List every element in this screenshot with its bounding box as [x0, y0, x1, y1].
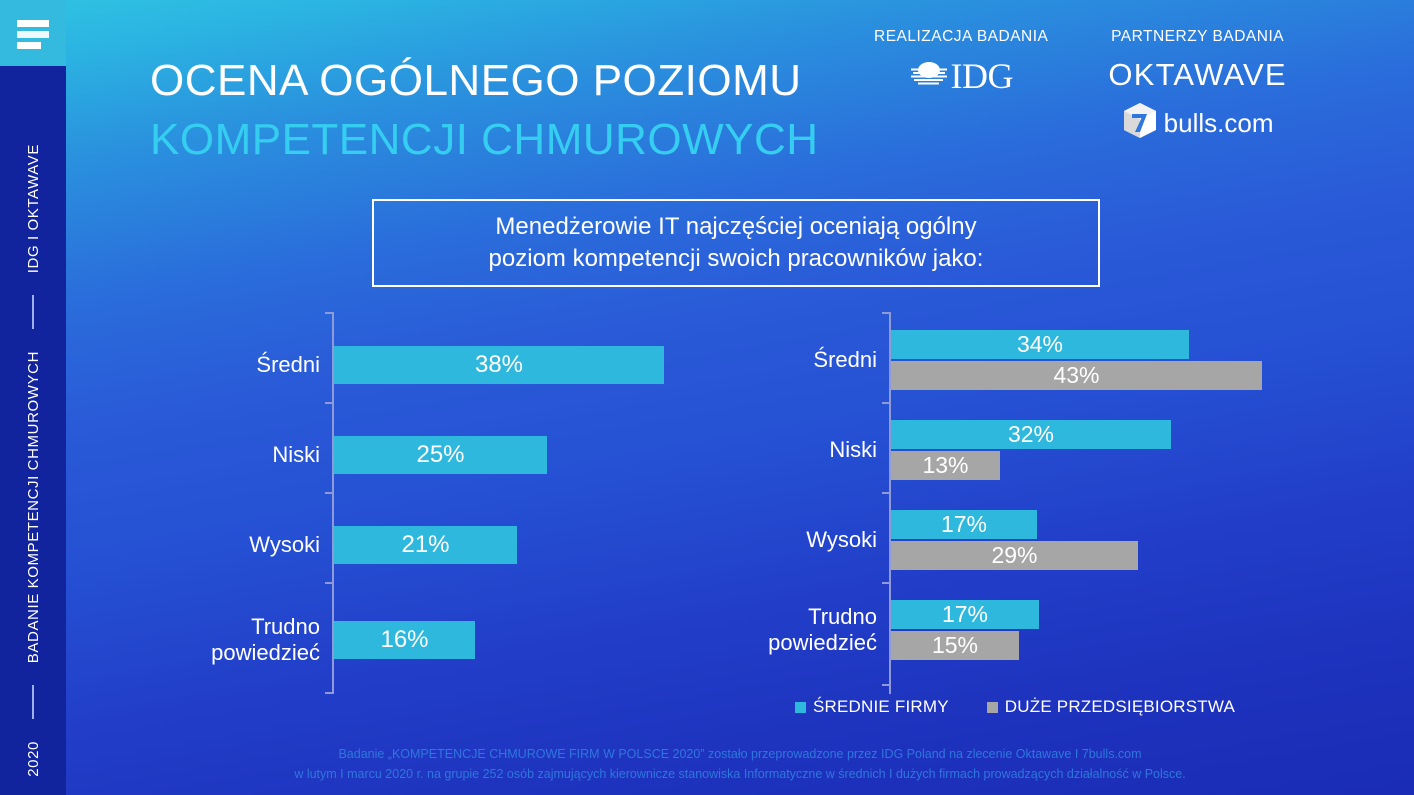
chart-total-row-3: Trudno powiedzieć 16% [180, 597, 700, 683]
credit-column-partnerzy: PARTNERZY BADANIA OKTAWAVE bulls.com [1108, 28, 1286, 145]
bar-total-3: 16% [334, 621, 475, 659]
chart-size-bars-3: 17% 15% [891, 587, 1300, 673]
chart-size-bars-1: 32% 13% [891, 407, 1300, 493]
rail-study-name: BADANIE KOMPETENCJI CHMUROWYCH [25, 351, 42, 663]
sevenbulls-cube-icon [1122, 102, 1158, 145]
bar-value-label: 15% [932, 634, 978, 657]
chart-total-bars-1: 25% [334, 412, 700, 498]
footnote: Badanie „KOMPETENCJE CHMUROWE FIRM W POL… [66, 744, 1414, 784]
legend-label: DUŻE PRZEDSIĘBIORSTWA [1005, 697, 1235, 717]
sevenbulls-logo: bulls.com [1108, 102, 1286, 145]
rail-divider-upper [32, 295, 34, 329]
idg-logo: IDG [874, 57, 1048, 96]
category-text: Średni [256, 352, 320, 378]
chart-size-category-2: Wysoki [740, 497, 889, 583]
chart-size-tick-4 [882, 684, 891, 686]
bar-medium-3: 17% [891, 600, 1039, 629]
chart-total-bars-3: 16% [334, 597, 700, 683]
chart-total: Średni 38% Niski 25% Wysoki [180, 312, 700, 694]
category-text: powiedzieć [211, 640, 320, 666]
chart-total-row-2: Wysoki 21% [180, 502, 700, 588]
bar-large-3: 15% [891, 631, 1019, 660]
category-text: Niski [829, 437, 877, 463]
chart-size-bars-2: 17% 29% [891, 497, 1300, 583]
chart-total-category-2: Wysoki [180, 502, 332, 588]
chart-size-category-1: Niski [740, 407, 889, 493]
chart-total-category-0: Średni [180, 322, 332, 408]
oktawave-logo: OKTAWAVE [1108, 57, 1286, 93]
chart-size-tick-0 [882, 312, 891, 314]
bar-value-label: 21% [401, 533, 449, 557]
hamburger-menu-button[interactable] [0, 0, 66, 66]
category-text: Wysoki [806, 527, 877, 553]
idg-sphere-icon [909, 57, 949, 96]
bar-total-1: 25% [334, 436, 547, 474]
sevenbulls-wordmark: bulls.com [1164, 108, 1274, 139]
bar-medium-2: 17% [891, 510, 1037, 539]
category-text: Trudno [251, 614, 320, 640]
bar-value-label: 16% [380, 628, 428, 652]
footnote-line-1: Badanie „KOMPETENCJE CHMUROWE FIRM W POL… [66, 744, 1414, 764]
slide-root: 2020 BADANIE KOMPETENCJI CHMUROWYCH IDG … [0, 0, 1414, 795]
chart-size-row-3: Trudno powiedzieć 17% 15% [740, 587, 1300, 673]
bar-value-label: 43% [1053, 364, 1099, 387]
chart-total-bars-0: 38% [334, 322, 700, 408]
left-rail: 2020 BADANIE KOMPETENCJI CHMUROWYCH IDG … [0, 0, 66, 795]
category-text: Wysoki [249, 532, 320, 558]
bar-medium-1: 32% [891, 420, 1171, 449]
chart-size-row-0: Średni 34% 43% [740, 317, 1300, 403]
rail-divider-lower [32, 685, 34, 719]
bar-large-2: 29% [891, 541, 1138, 570]
title-line-1: OCENA OGÓLNEGO POZIOMU [150, 57, 819, 105]
chart-size-category-0: Średni [740, 317, 889, 403]
rail-text-stack: 2020 BADANIE KOMPETENCJI CHMUROWYCH IDG … [0, 66, 66, 795]
legend-label: ŚREDNIE FIRMY [813, 697, 949, 717]
legend-swatch-icon [795, 702, 806, 713]
category-text: Średni [813, 347, 877, 373]
question-line-2: poziom kompetencji swoich pracowników ja… [489, 243, 984, 275]
bar-large-0: 43% [891, 361, 1262, 390]
chart-total-tick-0 [325, 312, 334, 314]
bar-value-label: 13% [922, 454, 968, 477]
category-text: Niski [272, 442, 320, 468]
chart-size-row-2: Wysoki 17% 29% [740, 497, 1300, 583]
chart-size-row-1: Niski 32% 13% [740, 407, 1300, 493]
bar-value-label: 29% [991, 544, 1037, 567]
hamburger-bar-2 [17, 31, 49, 38]
chart-total-row-1: Niski 25% [180, 412, 700, 498]
rail-year: 2020 [25, 741, 42, 777]
bar-value-label: 25% [416, 443, 464, 467]
bar-value-label: 38% [475, 353, 523, 377]
chart-legend: ŚREDNIE FIRMY DUŻE PRZEDSIĘBIORSTWA [795, 697, 1235, 717]
bar-value-label: 17% [942, 603, 988, 626]
chart-total-row-0: Średni 38% [180, 322, 700, 408]
chart-total-bars-2: 21% [334, 502, 700, 588]
bar-large-1: 13% [891, 451, 1000, 480]
title-line-2: KOMPETENCJI CHMUROWYCH [150, 116, 819, 164]
bar-value-label: 32% [1008, 423, 1054, 446]
hamburger-bar-1 [17, 20, 49, 27]
chart-size-bars-0: 34% 43% [891, 317, 1300, 403]
category-text: powiedzieć [768, 630, 877, 656]
rail-brands: IDG I OKTAWAVE [25, 144, 42, 273]
legend-item-srednie-firmy[interactable]: ŚREDNIE FIRMY [795, 697, 949, 717]
bar-total-0: 38% [334, 346, 664, 384]
chart-total-category-3: Trudno powiedzieć [180, 597, 332, 683]
bar-total-2: 21% [334, 526, 517, 564]
legend-item-duze-przedsiebiorstwa[interactable]: DUŻE PRZEDSIĘBIORSTWA [987, 697, 1235, 717]
hamburger-bar-3 [17, 42, 41, 49]
footnote-line-2: w lutym I marcu 2020 r. na grupie 252 os… [66, 764, 1414, 784]
credits-area: REALIZACJA BADANIA IDG [854, 28, 1414, 145]
chart-total-tick-4 [325, 692, 334, 694]
category-text: Trudno [808, 604, 877, 630]
chart-by-company-size: Średni 34% 43% Niski 32% 13% [740, 312, 1300, 694]
page-title: OCENA OGÓLNEGO POZIOMU KOMPETENCJI CHMUR… [150, 57, 819, 163]
credit-column-realizacja: REALIZACJA BADANIA IDG [874, 28, 1048, 145]
question-line-1: Menedżerowie IT najczęściej oceniają ogó… [489, 211, 984, 243]
bar-medium-0: 34% [891, 330, 1189, 359]
idg-wordmark: IDG [950, 60, 1012, 92]
bar-value-label: 34% [1017, 333, 1063, 356]
credit-heading-realizacja: REALIZACJA BADANIA [874, 28, 1048, 46]
chart-size-category-3: Trudno powiedzieć [740, 587, 889, 673]
legend-swatch-icon [987, 702, 998, 713]
credit-heading-partnerzy: PARTNERZY BADANIA [1108, 28, 1286, 46]
bar-value-label: 17% [941, 513, 987, 536]
question-box: Menedżerowie IT najczęściej oceniają ogó… [372, 199, 1100, 287]
chart-total-category-1: Niski [180, 412, 332, 498]
